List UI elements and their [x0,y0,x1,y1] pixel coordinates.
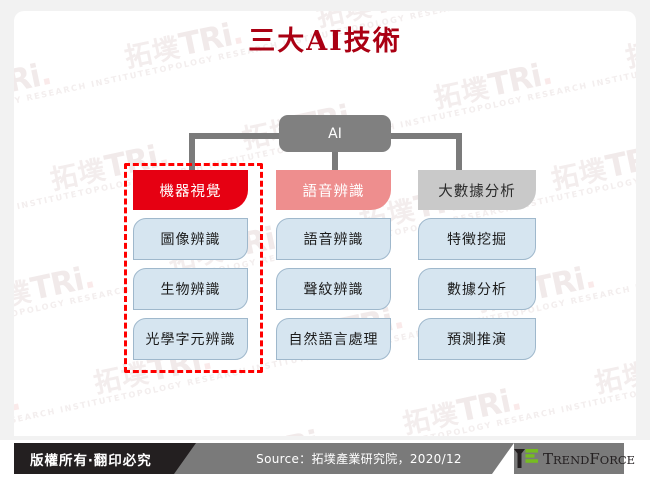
leaf-feature-mining-label: 特徵挖掘 [447,229,507,249]
trendforce-wordmark-f: F [589,450,599,468]
node-ai-root[interactable]: AI [279,115,391,152]
leaf-ocr[interactable]: 光學字元辨識 [133,318,248,360]
leaf-nlp[interactable]: 自然語言處理 [276,318,391,360]
branch-column-speech-recognition: 語音辨識 語音辨識 聲紋辨識 自然語言處理 [276,170,391,360]
trendforce-wordmark-rend: REND [553,453,589,467]
branch-column-machine-vision: 機器視覺 圖像辨識 生物辨識 光學字元辨識 [133,170,248,360]
leaf-predictive-deduction[interactable]: 預測推演 [418,318,536,360]
branch-column-big-data: 大數據分析 特徵挖掘 數據分析 預測推演 [418,170,536,360]
node-big-data-analysis-label: 大數據分析 [438,180,516,201]
leaf-voiceprint-recognition[interactable]: 聲紋辨識 [276,268,391,310]
leaf-nlp-label: 自然語言處理 [289,329,379,349]
slide-canvas: 拓墣TRi.TOPOLOGY RESEARCH INSTITUTE拓墣TRi.T… [0,0,650,485]
leaf-biometric-recognition-label: 生物辨識 [161,279,221,299]
node-machine-vision[interactable]: 機器視覺 [133,170,248,210]
leaf-voice-recognition[interactable]: 語音辨識 [276,218,391,260]
node-machine-vision-label: 機器視覺 [160,180,222,201]
node-ai-root-label: AI [328,126,342,142]
trendforce-wordmark-orce: ORCE [600,453,635,467]
leaf-image-recognition[interactable]: 圖像辨識 [133,218,248,260]
footer-copyright-wedge [174,443,196,474]
trendforce-logo: TRENDFORCE [514,443,635,474]
connector-drop-right [456,133,462,173]
node-speech-recognition[interactable]: 語音辨識 [276,170,391,210]
ai-technology-tree: AI 機器視覺 圖像辨識 生物辨識 光學字元辨識 語音辨識 語音辨識 [0,0,650,440]
leaf-ocr-label: 光學字元辨識 [146,329,236,349]
node-speech-recognition-label: 語音辨識 [303,180,365,201]
node-big-data-analysis[interactable]: 大數據分析 [418,170,536,210]
leaf-biometric-recognition[interactable]: 生物辨識 [133,268,248,310]
trendforce-mark-icon [514,449,538,468]
leaf-predictive-deduction-label: 預測推演 [447,329,507,349]
footer-bar: 版權所有‧翻印必究 Source：拓墣產業研究院，2020/12 TRENDFO… [0,440,650,485]
leaf-data-analysis[interactable]: 數據分析 [418,268,536,310]
leaf-voiceprint-recognition-label: 聲紋辨識 [304,279,364,299]
trendforce-wordmark: TRENDFORCE [543,450,635,468]
footer-source-text: Source：拓墣產業研究院，2020/12 [219,443,499,474]
connector-drop-left [189,133,195,173]
footer-strip: 版權所有‧翻印必究 Source：拓墣產業研究院，2020/12 TRENDFO… [14,443,636,474]
trendforce-wordmark-t: T [543,450,553,468]
footer-copyright-text: 版權所有‧翻印必究 [30,443,152,474]
leaf-data-analysis-label: 數據分析 [447,279,507,299]
leaf-image-recognition-label: 圖像辨識 [161,229,221,249]
leaf-feature-mining[interactable]: 特徵挖掘 [418,218,536,260]
leaf-voice-recognition-label: 語音辨識 [304,229,364,249]
